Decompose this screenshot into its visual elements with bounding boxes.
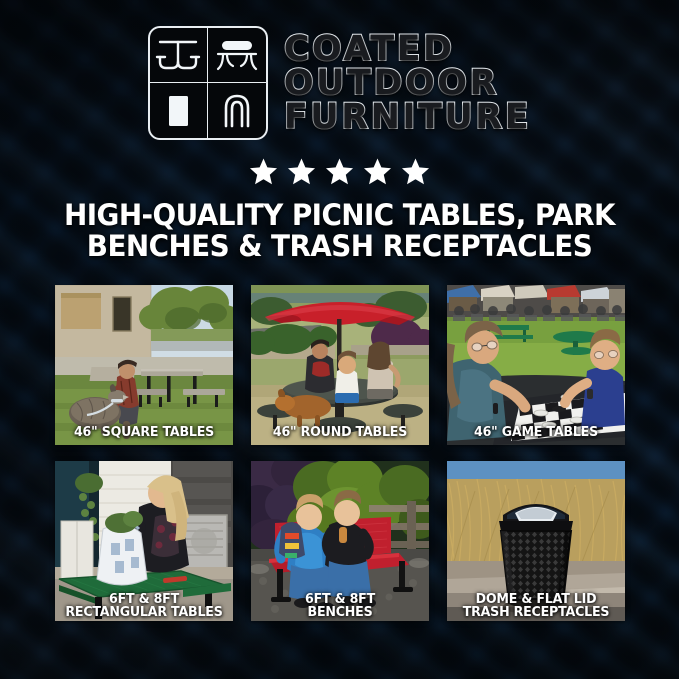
brand-name-line-2: OUTDOOR xyxy=(284,66,531,100)
trash-receptacle-icon xyxy=(150,83,208,138)
brand-wordmark: COATED OUTDOOR FURNITURE xyxy=(284,32,531,135)
product-tile-trash-receptacles[interactable]: DOME & FLAT LID TRASH RECEPTACLES xyxy=(447,461,625,621)
round-tables-photo xyxy=(251,285,429,445)
product-caption: 6FT & 8FT RECTANGULAR TABLES xyxy=(58,593,231,620)
star-icon xyxy=(249,157,278,186)
star-icon xyxy=(401,157,430,186)
product-tile-square-tables[interactable]: 46" SQUARE TABLES xyxy=(55,285,233,445)
product-tile-rectangular-tables[interactable]: 6FT & 8FT RECTANGULAR TABLES xyxy=(55,461,233,621)
product-caption: 6FT & 8FT BENCHES xyxy=(254,593,427,620)
product-caption: 46" ROUND TABLES xyxy=(254,426,427,439)
star-icon xyxy=(287,157,316,186)
star-icon xyxy=(325,157,354,186)
game-tables-photo xyxy=(447,285,625,445)
child-figure xyxy=(335,351,359,403)
square-tables-photo xyxy=(55,285,233,445)
brand-name-line-1: COATED xyxy=(284,32,531,66)
headline-line-2: BENCHES & TRASH RECEPTACLES xyxy=(39,231,641,262)
product-caption: 46" SQUARE TABLES xyxy=(58,426,231,439)
headline-line-1: HIGH-QUALITY PICNIC TABLES, PARK xyxy=(39,200,641,231)
product-grid: 46" SQUARE TABLES xyxy=(55,285,625,621)
product-tile-game-tables[interactable]: 46" GAME TABLES xyxy=(447,285,625,445)
page-title: HIGH-QUALITY PICNIC TABLES, PARK BENCHES… xyxy=(39,200,641,262)
bike-rack-icon xyxy=(208,83,266,138)
star-rating xyxy=(0,157,679,186)
star-icon xyxy=(363,157,392,186)
product-banner: COATED OUTDOOR FURNITURE HIGH-QUALITY PI… xyxy=(0,0,679,679)
product-tile-round-tables[interactable]: 46" ROUND TABLES xyxy=(251,285,429,445)
product-caption: 46" GAME TABLES xyxy=(450,426,623,439)
picnic-table-icon xyxy=(150,28,208,83)
logo-icon-grid xyxy=(148,26,268,140)
white-cabinet xyxy=(61,521,93,579)
park-bench-icon xyxy=(208,28,266,83)
product-caption: DOME & FLAT LID TRASH RECEPTACLES xyxy=(450,593,623,620)
brand-logo: COATED OUTDOOR FURNITURE xyxy=(0,26,679,140)
product-tile-benches[interactable]: 6FT & 8FT BENCHES xyxy=(251,461,429,621)
brand-name-line-3: FURNITURE xyxy=(284,100,531,134)
